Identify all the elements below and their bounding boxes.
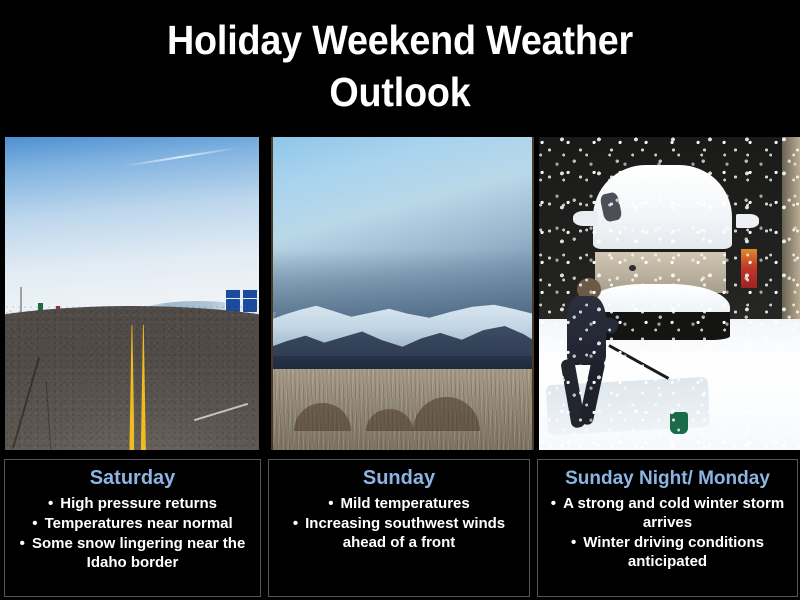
bullet-text: Winter driving conditions anticipated (583, 534, 764, 570)
bullet-icon: • (551, 494, 556, 513)
list-item: •High pressure returns (9, 494, 256, 513)
side-mirror-left (573, 211, 599, 227)
bullet-list-sunday-night-monday: •A strong and cold winter storm arrives … (542, 494, 793, 571)
photo-row (0, 137, 800, 450)
bullet-text: Increasing southwest winds ahead of a fr… (305, 515, 505, 551)
shovel-blade (670, 412, 688, 434)
bullet-icon: • (571, 533, 576, 552)
taillight (741, 249, 757, 288)
bullet-icon: • (328, 494, 333, 513)
winter-highway-scene (5, 137, 259, 450)
bullet-icon: • (20, 534, 25, 553)
bullet-text: High pressure returns (60, 495, 217, 512)
list-item: •Some snow lingering near the Idaho bord… (9, 534, 256, 572)
forecast-box-saturday: Saturday •High pressure returns •Tempera… (4, 459, 261, 597)
weather-outlook-slide: Holiday Weekend Weather Outlook (0, 0, 800, 600)
list-item: •Temperatures near normal (9, 514, 256, 533)
bullet-text: Some snow lingering near the Idaho borde… (32, 535, 245, 571)
bullet-text: Mild temperatures (341, 495, 470, 512)
winter-highway-photo (5, 137, 259, 450)
bullet-text: Temperatures near normal (45, 515, 233, 532)
person-shoveling (562, 278, 614, 428)
tailgate-latch (629, 265, 636, 271)
list-item: •Increasing southwest winds ahead of a f… (273, 514, 525, 552)
forecast-heading-sunday-night-monday: Sunday Night/ Monday (542, 466, 793, 491)
bullet-icon: • (293, 514, 298, 533)
page-title: Holiday Weekend Weather Outlook (32, 14, 768, 118)
snow-shoveling-scene (539, 137, 800, 450)
snowy-mountains-photo (271, 137, 534, 450)
forecast-heading-sunday: Sunday (273, 466, 525, 491)
side-mirror-right (736, 214, 760, 228)
list-item: •Mild temperatures (273, 494, 525, 513)
bullet-text: A strong and cold winter storm arrives (563, 495, 784, 531)
forecast-box-sunday-night-monday: Sunday Night/ Monday •A strong and cold … (537, 459, 798, 597)
bullet-icon: • (32, 514, 37, 533)
snow-shoveling-photo (539, 137, 800, 450)
bullet-icon: • (48, 494, 53, 513)
bullet-list-saturday: •High pressure returns •Temperatures nea… (9, 494, 256, 572)
list-item: •Winter driving conditions anticipated (542, 533, 793, 571)
forecast-box-row: Saturday •High pressure returns •Tempera… (0, 459, 800, 600)
forecast-heading-saturday: Saturday (9, 466, 256, 491)
snowy-mountains-scene (273, 137, 532, 450)
person-leg-front (579, 358, 606, 425)
bullet-list-sunday: •Mild temperatures •Increasing southwest… (273, 494, 525, 552)
forecast-box-sunday: Sunday •Mild temperatures •Increasing so… (268, 459, 530, 597)
list-item: •A strong and cold winter storm arrives (542, 494, 793, 532)
